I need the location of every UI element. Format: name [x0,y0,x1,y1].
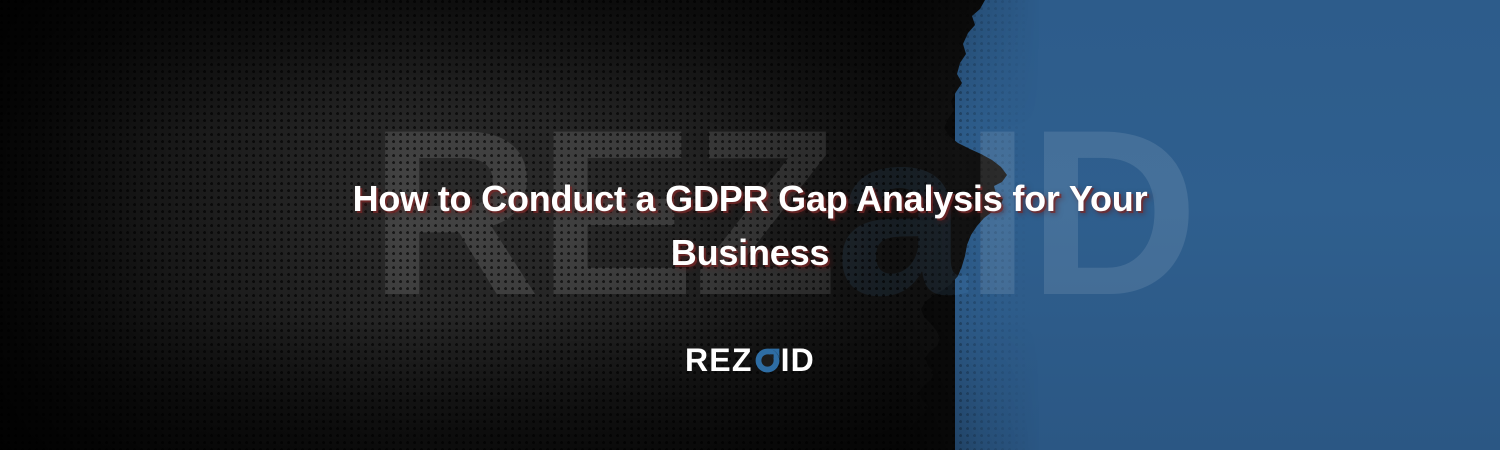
banner-content: How to Conduct a GDPR Gap Analysis for Y… [0,0,1500,450]
brand-logo-wordmark: REZID [685,344,815,376]
page-title: How to Conduct a GDPR Gap Analysis for Y… [0,172,1500,280]
brand-logo[interactable]: REZID [0,344,1500,376]
logo-id: ID [781,344,815,376]
page-title-line-1: How to Conduct a GDPR Gap [353,178,848,219]
hero-banner: REZaID How to Conduct a GDPR Gap Analysi… [0,0,1500,450]
rezaid-a-mark-icon [755,348,780,373]
logo-rez: REZ [685,344,753,376]
